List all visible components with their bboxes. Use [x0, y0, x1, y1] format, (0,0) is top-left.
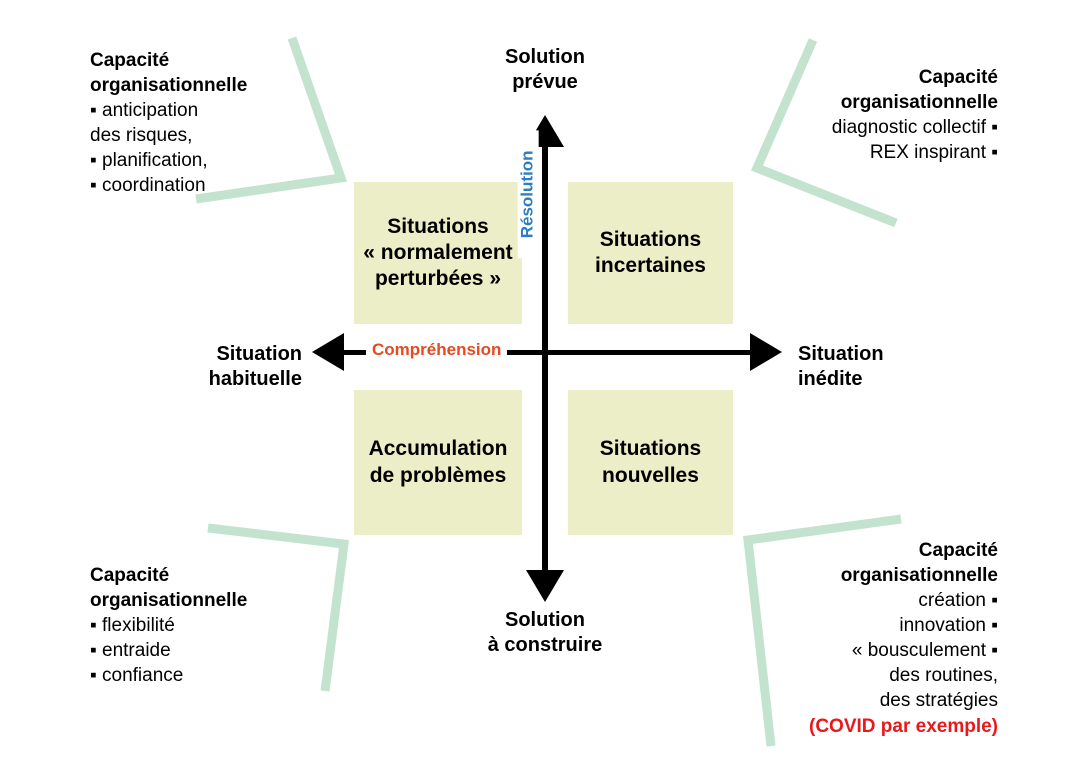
diagram-canvas: Situations « normalement perturbées » Si…: [0, 0, 1072, 775]
axis-name-horizontal: Compréhension: [366, 341, 507, 360]
arrow-left-icon: [312, 333, 344, 371]
axis-label-top: Solution prévue: [455, 45, 635, 95]
capability-title: Capacité organisationnelle: [770, 65, 998, 115]
quadrant-top-left: Situations « normalement perturbées »: [354, 182, 522, 324]
axis-name-vertical: Résolution: [518, 130, 539, 258]
quadrant-bottom-left: Accumulation de problèmes: [354, 390, 522, 535]
quadrant-top-right: Situations incertaines: [568, 182, 733, 324]
capability-item: des routines,: [750, 663, 998, 688]
capability-block-top-left: Capacité organisationnelle ▪ anticipatio…: [90, 48, 340, 198]
arrow-down-icon: [526, 570, 564, 602]
axis-label-right: Situation inédite: [798, 342, 958, 392]
capability-block-bottom-right: Capacité organisationnelle création ▪ in…: [750, 538, 998, 739]
axis-label-bottom: Solution à construire: [455, 608, 635, 658]
capability-item: diagnostic collectif ▪: [770, 115, 998, 140]
capability-item: ▪ entraide: [90, 638, 340, 663]
capability-title: Capacité organisationnelle: [750, 538, 998, 588]
capability-item: innovation ▪: [750, 613, 998, 638]
capability-item: création ▪: [750, 588, 998, 613]
quadrant-bottom-right: Situations nouvelles: [568, 390, 733, 535]
capability-title: Capacité organisationnelle: [90, 48, 340, 98]
capability-highlight: (COVID par exemple): [750, 714, 998, 739]
capability-item: REX inspirant ▪: [770, 140, 998, 165]
capability-item: des stratégies: [750, 688, 998, 713]
capability-item: ▪ anticipation: [90, 98, 340, 123]
capability-item: ▪ flexibilité: [90, 613, 340, 638]
capability-item: ▪ planification,: [90, 148, 340, 173]
capability-block-top-right: Capacité organisationnelle diagnostic co…: [770, 65, 998, 165]
capability-item: des risques,: [90, 123, 340, 148]
vertical-axis-line: [542, 140, 548, 577]
capability-block-bottom-left: Capacité organisationnelle ▪ flexibilité…: [90, 563, 340, 688]
arrow-right-icon: [750, 333, 782, 371]
axis-label-left: Situation habituelle: [150, 342, 302, 392]
capability-title: Capacité organisationnelle: [90, 563, 340, 613]
capability-item: ▪ coordination: [90, 173, 340, 198]
capability-item: ▪ confiance: [90, 663, 340, 688]
capability-item: « bousculement ▪: [750, 638, 998, 663]
